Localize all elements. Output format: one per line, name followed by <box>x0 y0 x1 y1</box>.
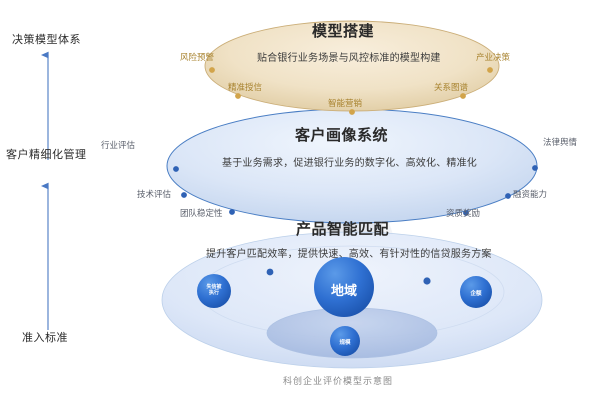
node-label-team-stability[interactable]: 团队稳定性 <box>180 209 223 218</box>
node-label-precise-credit[interactable]: 精准授信 <box>228 83 262 92</box>
node-label-risk-warning[interactable]: 风险预警 <box>180 53 214 62</box>
layer-title-product-smart-matching: 产品智能匹配 <box>296 222 389 239</box>
layer-title-model-building: 模型搭建 <box>312 24 374 41</box>
node-label-industry-assessment[interactable]: 行业评估 <box>101 141 135 150</box>
node-label-legal-public-opinion[interactable]: 法律舆情 <box>543 138 577 147</box>
node-label-qualification-award[interactable]: 资质奖励 <box>446 209 480 218</box>
node-label-smart-marketing[interactable]: 智能营销 <box>328 99 362 108</box>
layer-subtitle-product-smart-matching: 提升客户匹配效率，提供快速、高效、有针对性的信贷服务方案 <box>206 249 492 260</box>
layer-subtitle-customer-profile-system: 基于业务需求，促进银行业务的数字化、高效化、精准化 <box>222 158 477 169</box>
node-label-industry-decision[interactable]: 产业决策 <box>476 53 510 62</box>
axis-level-label-refined-management: 客户精细化管理 <box>6 149 87 161</box>
node-label-relation-graph[interactable]: 关系图谱 <box>434 83 468 92</box>
node-label-financing-capability[interactable]: 融资能力 <box>513 190 547 199</box>
figure-caption: 科创企业评价模型示意图 <box>283 377 393 387</box>
diagram-canvas: 决策模型体系 客户精细化管理 准入标准 模型搭建 贴合银行业务场景与风控标准的模… <box>0 0 600 400</box>
axis-level-label-entry-standard: 准入标准 <box>22 332 68 344</box>
layer-subtitle-model-building: 贴合银行业务场景与风控标准的模型构建 <box>257 53 441 64</box>
layer-title-customer-profile-system: 客户画像系统 <box>295 128 388 145</box>
node-label-technology-assessment[interactable]: 技术评估 <box>137 190 171 199</box>
axis-level-label-decision-model: 决策模型体系 <box>12 34 81 46</box>
